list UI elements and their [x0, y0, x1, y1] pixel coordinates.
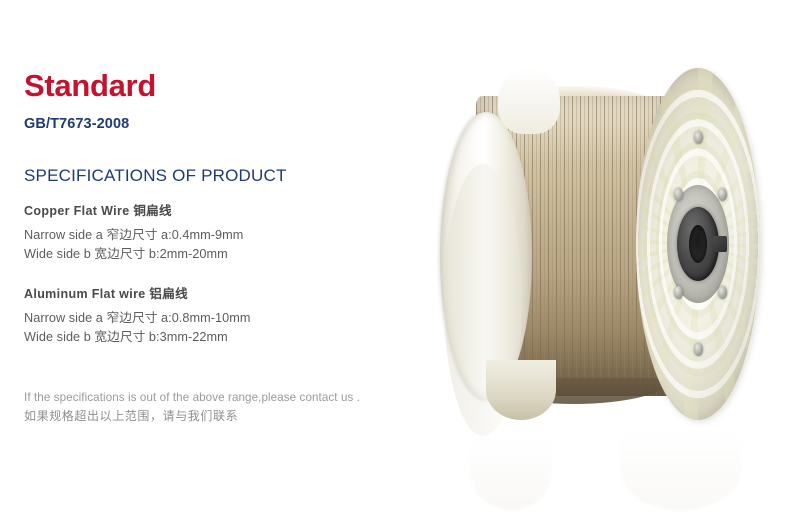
spec-group-copper: Copper Flat Wire 铜扁线 Narrow side a 窄边尺寸 …: [24, 205, 243, 264]
spool-reflection-left: [470, 436, 552, 510]
wire-spool-illustration: [440, 68, 750, 420]
spool-hub-keyway-block: [713, 236, 727, 252]
spool-flange-left: [440, 112, 532, 400]
standard-code: GB/T7673-2008: [24, 117, 129, 132]
section-heading: SPECIFICATIONS OF PRODUCT: [24, 167, 287, 184]
contact-note-chinese: 如果规格超出以上范围，请与我们联系: [24, 407, 360, 426]
contact-note-english: If the specifications is out of the abov…: [24, 388, 360, 407]
contact-note: If the specifications is out of the abov…: [24, 388, 360, 426]
spool-flange-left-top-lip: [498, 68, 560, 134]
spool-flange-left-foot: [486, 360, 556, 420]
spec-line-wide-side: Wide side b 宽边尺寸 b:3mm-22mm: [24, 328, 250, 347]
spool-hub-bolt: [694, 131, 703, 144]
spec-line-wide-side: Wide side b 宽边尺寸 b:2mm-20mm: [24, 245, 243, 264]
spool-hub-bolt: [694, 343, 703, 356]
specification-text-column: Standard GB/T7673-2008 SPECIFICATIONS OF…: [0, 0, 440, 518]
product-image: [430, 0, 800, 518]
spec-line-narrow-side: Narrow side a 窄边尺寸 a:0.4mm-9mm: [24, 226, 243, 245]
product-spec-page: Standard GB/T7673-2008 SPECIFICATIONS OF…: [0, 0, 800, 518]
spool-hub-bolt: [718, 286, 727, 299]
spool-reflection: [440, 424, 750, 510]
spec-group-aluminum: Aluminum Flat wire 铝扁线 Narrow side a 窄边尺…: [24, 288, 250, 347]
spec-line-narrow-side: Narrow side a 窄边尺寸 a:0.8mm-10mm: [24, 309, 250, 328]
spec-group-title: Aluminum Flat wire 铝扁线: [24, 288, 250, 301]
spool-hub-bolt: [718, 188, 727, 201]
page-title: Standard: [24, 70, 156, 101]
spec-group-title: Copper Flat Wire 铜扁线: [24, 205, 243, 218]
spool-reflection-right: [620, 428, 742, 510]
spool-hub-axle-hole: [689, 225, 707, 263]
spool-flange-right: [636, 68, 760, 420]
